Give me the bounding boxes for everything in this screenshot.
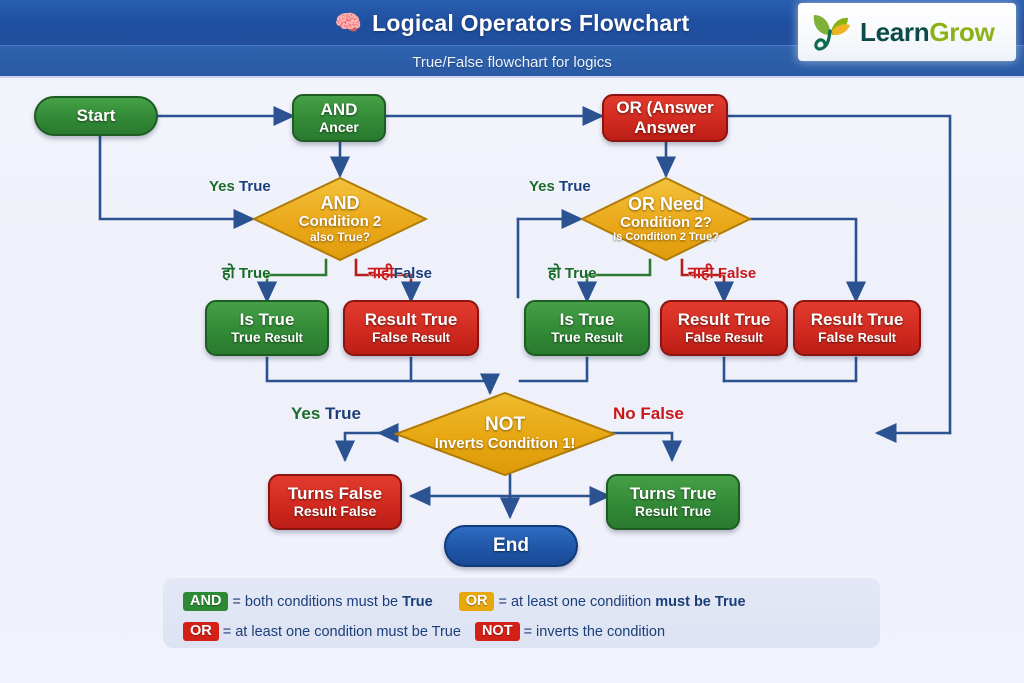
label-not-no: No False (613, 404, 684, 424)
wire-not-no (610, 433, 672, 459)
flowchart-page: 🧠 Logical Operators Flowchart True/False… (0, 0, 1024, 683)
node-and-true-line2: True Result (231, 330, 303, 346)
or-false2-strong: False (818, 329, 854, 345)
or-diamond-shape (580, 176, 752, 262)
node-and-diamond[interactable]: AND Condition 2 also True? (252, 176, 428, 262)
node-and-true[interactable]: Is True True Result (205, 300, 329, 356)
label-or-ho-word: True (565, 265, 597, 282)
logo-word-learn: Learn (860, 17, 929, 47)
node-or-true-line1: Is True (560, 311, 615, 329)
label-and-yes: Yes True (209, 178, 271, 195)
node-and-top-line1: AND (321, 101, 358, 119)
page-title-text: Logical Operators Flowchart (372, 10, 689, 37)
wire-and-true (267, 260, 326, 300)
label-or-ho-true: हो True (548, 261, 597, 283)
node-start[interactable]: Start (34, 96, 158, 136)
not-diamond-shape (394, 391, 616, 477)
node-end[interactable]: End (444, 525, 578, 567)
legend-row-2: OR = at least one condition must be True… (183, 622, 665, 641)
label-and-yes-dark: True (239, 178, 271, 195)
node-and-true-line1: Is True (240, 311, 295, 329)
node-or-false2-line1: Result True (811, 311, 904, 329)
wire-start-to-and-diamond (100, 132, 252, 219)
node-turns-false-line2: Result False (294, 504, 376, 519)
node-or-top-line2: Answer (634, 119, 695, 137)
or-false-strong: False (685, 329, 721, 345)
node-and-false-line2: False Result (372, 330, 450, 346)
or-true-small: Result (585, 331, 623, 345)
node-end-label: End (493, 536, 529, 557)
brain-icon: 🧠 (335, 12, 362, 34)
node-and-false-line1: Result True (365, 311, 458, 329)
and-false-small: Result (412, 331, 450, 345)
legend-item-or-red: OR = at least one condition must be True (183, 622, 461, 641)
legend-text-not: = inverts the condition (524, 624, 665, 640)
node-or-true-line2: True Result (551, 330, 623, 346)
and-diamond-shape (252, 176, 428, 262)
legend-item-or-amber: OR = at least one condiition must be Tru… (459, 592, 746, 611)
sprout-leaf-icon (808, 9, 856, 55)
label-not-no-red: No (613, 404, 636, 423)
logo-word-grow: Grow (929, 17, 994, 47)
label-or-yes-dark: True (559, 178, 591, 195)
legend-panel: AND = both conditions must be True OR = … (163, 578, 880, 648)
legend-row-1: AND = both conditions must be True OR = … (183, 592, 746, 611)
label-or-yes: Yes True (529, 178, 591, 195)
label-and-yes-green: Yes (209, 178, 235, 195)
legend-item-and: AND = both conditions must be True (183, 592, 433, 611)
node-or-true[interactable]: Is True True Result (524, 300, 650, 356)
legend-badge-and: AND (183, 592, 228, 611)
node-or-top[interactable]: OR (Answer Answer (602, 94, 728, 142)
wire-ortrue-down (520, 358, 587, 381)
label-and-ho-word: True (239, 265, 271, 282)
legend-text-or-red: = at least one condition must be True (223, 624, 461, 640)
wire-andtrue-down (267, 358, 490, 381)
legend-badge-or-amber: OR (459, 592, 495, 611)
node-start-label: Start (77, 107, 116, 125)
or-false2-small: Result (858, 331, 896, 345)
legend-text-and: = both conditions must be True (232, 594, 432, 610)
node-or-false-2[interactable]: Result True False Result (793, 300, 921, 356)
label-not-yes-green: Yes (291, 404, 320, 423)
label-and-nahi-word: False (394, 265, 432, 282)
label-or-nahi-devanagari: नाही (688, 265, 714, 282)
node-and-top-line2: Ancer (319, 120, 359, 135)
node-turns-true-line2: Result True (635, 504, 711, 519)
label-and-nahi-false: नाहीFalse (368, 261, 432, 283)
and-true-strong: True (231, 329, 261, 345)
label-and-ho-devanagari: हो (222, 265, 235, 282)
legend-badge-not: NOT (475, 622, 520, 641)
and-true-small: Result (265, 331, 303, 345)
node-and-top[interactable]: AND Ancer (292, 94, 386, 142)
or-true-strong: True (551, 329, 581, 345)
label-not-yes-dark: True (325, 404, 361, 423)
label-and-nahi-devanagari: नाही (368, 265, 394, 282)
legend-text-or-amber: = at least one condiition must be True (498, 594, 745, 610)
node-or-top-line1: OR (Answer (616, 99, 713, 117)
node-or-diamond[interactable]: OR Need Condition 2? Is Condition 2 True… (580, 176, 752, 262)
label-or-ho-devanagari: हो (548, 265, 561, 282)
logo-wordmark: LearnGrow (860, 17, 995, 48)
label-or-nahi-word: False (718, 265, 756, 282)
label-not-yes: Yes True (291, 404, 361, 424)
label-or-yes-green: Yes (529, 178, 555, 195)
label-and-ho-true: हो True (222, 261, 271, 283)
legend-item-not: NOT = inverts the condition (475, 622, 665, 641)
node-or-false-line1: Result True (678, 311, 771, 329)
node-turns-true[interactable]: Turns True Result True (606, 474, 740, 530)
label-or-nahi-false: नाही False (688, 261, 756, 283)
wire-or-right-rail (727, 116, 950, 433)
node-turns-true-line1: Turns True (630, 485, 717, 503)
label-not-no-dark: False (640, 404, 683, 423)
node-or-false[interactable]: Result True False Result (660, 300, 788, 356)
legend-badge-or-red: OR (183, 622, 219, 641)
or-false-small: Result (725, 331, 763, 345)
node-or-false-line2: False Result (685, 330, 763, 346)
node-turns-false[interactable]: Turns False Result False (268, 474, 402, 530)
wire-orfalse2-down (724, 358, 856, 381)
node-and-false[interactable]: Result True False Result (343, 300, 479, 356)
node-not-diamond[interactable]: NOT Inverts Condition 1! (394, 391, 616, 477)
node-turns-false-line1: Turns False (288, 485, 382, 503)
and-false-strong: False (372, 329, 408, 345)
learngrow-logo[interactable]: LearnGrow (798, 3, 1016, 61)
node-or-false2-line2: False Result (818, 330, 896, 346)
